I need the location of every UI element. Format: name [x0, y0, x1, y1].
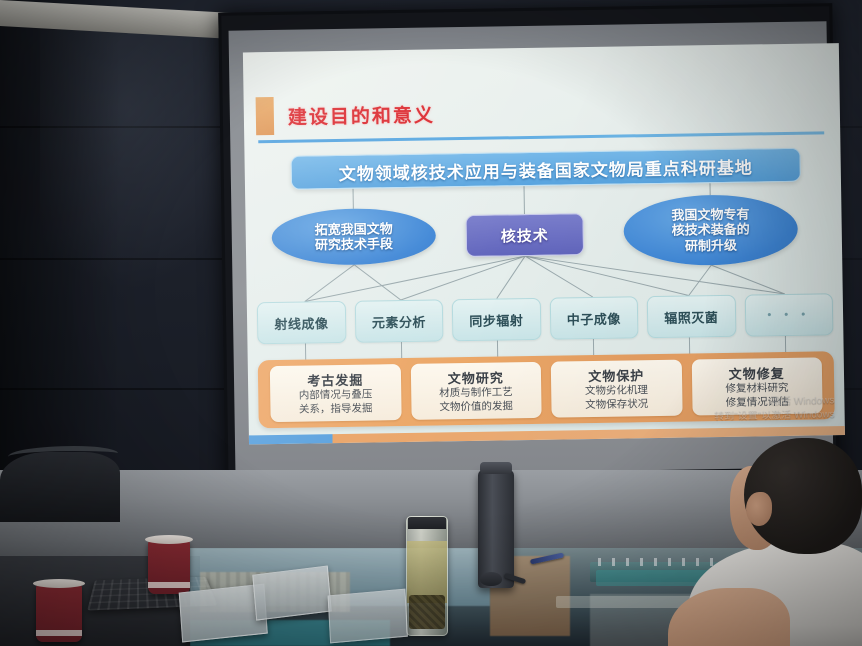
- application-line2: 关系，指导发掘: [299, 402, 373, 417]
- application-card: 文物研究 材质与制作工艺 文物价值的发掘: [410, 362, 541, 420]
- screen-surface: 建设目的和意义 文物领域核技术应用与装备国家文物局重点科研基地 拓宽我国文物 研…: [229, 21, 834, 476]
- application-line2: 文物价值的发掘: [439, 400, 513, 415]
- application-title: 文物研究: [448, 367, 504, 387]
- branch-right-line2: 核技术装备的: [672, 222, 750, 239]
- binder-rings: [598, 558, 718, 566]
- slide-bottom-strip: [249, 426, 845, 444]
- watermark-line-1: 激活 Windows: [714, 394, 835, 409]
- branch-left-line1: 拓宽我国文物: [315, 221, 393, 238]
- document: [556, 596, 706, 608]
- title-accent-bar: [256, 97, 275, 135]
- diagram-branch-right: 我国文物专有 核技术装备的 研制升级: [623, 194, 798, 267]
- branch-right-line1: 我国文物专有: [671, 207, 749, 224]
- application-line1: 材质与制作工艺: [439, 386, 513, 401]
- nameplate: [252, 566, 331, 621]
- application-line1: 内部情况与叠压: [299, 388, 373, 403]
- chair-armrest: [8, 446, 118, 464]
- paper-cup: [148, 540, 190, 594]
- document: [596, 570, 714, 586]
- tech-box: 中子成像: [549, 296, 638, 339]
- tech-box-ellipsis: • • •: [744, 293, 833, 336]
- application-title: 文物修复: [729, 363, 785, 383]
- paper-cup: [36, 584, 82, 642]
- projector-screen: 建设目的和意义 文物领域核技术应用与装备国家文物局重点科研基地 拓宽我国文物 研…: [218, 3, 839, 495]
- tech-box: 射线成像: [257, 301, 346, 344]
- diagram-branch-left: 拓宽我国文物 研究技术手段: [271, 207, 436, 266]
- watermark-line-2: 转到"设置"以激活 Windows: [714, 408, 835, 423]
- application-title: 文物保护: [588, 365, 644, 385]
- wall-shadow: [0, 0, 120, 500]
- technology-row: 射线成像 元素分析 同步辐射 中子成像 辐照灭菌 • • •: [257, 293, 834, 344]
- application-line2: 文物保存状况: [585, 398, 648, 413]
- computer-mouse: [480, 572, 502, 586]
- windows-activation-watermark: 激活 Windows 转到"设置"以激活 Windows: [714, 394, 835, 423]
- glass-tea-jar: [406, 516, 448, 636]
- diagram-root-node: 文物领域核技术应用与装备国家文物局重点科研基地: [291, 148, 801, 190]
- slide-title-row: 建设目的和意义: [244, 87, 841, 136]
- application-line1: 文物劣化机理: [585, 384, 648, 399]
- diagram-branch-center: 核技术: [465, 213, 584, 257]
- tech-box: 同步辐射: [452, 298, 541, 341]
- meeting-room-photo: 建设目的和意义 文物领域核技术应用与装备国家文物局重点科研基地 拓宽我国文物 研…: [0, 0, 862, 646]
- branch-right-line3: 研制升级: [685, 237, 737, 253]
- thermos-flask: [478, 470, 514, 588]
- projected-slide: 建设目的和意义 文物领域核技术应用与装备国家文物局重点科研基地 拓宽我国文物 研…: [243, 43, 845, 444]
- application-card: 文物保护 文物劣化机理 文物保存状况: [551, 360, 682, 418]
- tech-box: 元素分析: [354, 299, 443, 342]
- application-card: 考古发掘 内部情况与叠压 关系，指导发掘: [270, 364, 401, 422]
- branch-left-line2: 研究技术手段: [315, 236, 393, 253]
- nameplate: [328, 589, 408, 644]
- application-title: 考古发掘: [307, 369, 363, 389]
- tech-box: 辐照灭菌: [647, 295, 736, 338]
- page-title: 建设目的和意义: [288, 100, 435, 129]
